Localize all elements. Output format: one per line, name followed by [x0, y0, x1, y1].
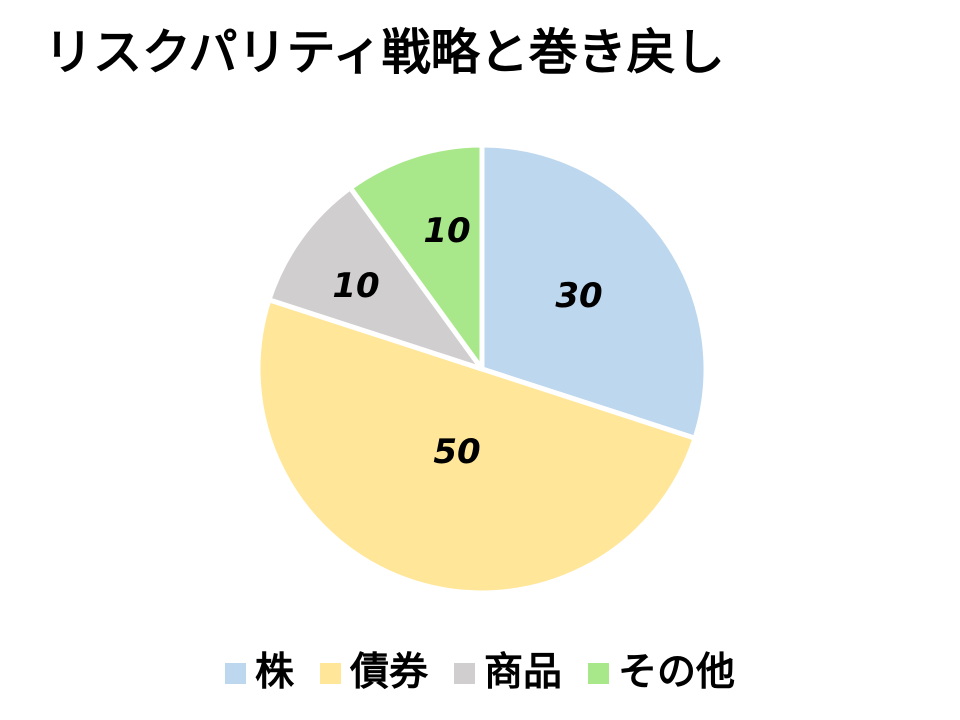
legend-item-stocks[interactable]: 株	[225, 651, 294, 695]
pie-slice-label-commodities: 10	[332, 266, 379, 306]
legend-swatch-bonds	[320, 663, 341, 684]
legend-swatch-commodities	[454, 663, 475, 684]
legend-item-commodities[interactable]: 商品	[454, 651, 562, 695]
legend-item-other[interactable]: その他	[588, 651, 735, 695]
pie-chart: 30 50 10 10	[0, 0, 960, 640]
legend-swatch-stocks	[225, 663, 246, 684]
chart-legend: 株 債券 商品 その他	[0, 645, 960, 701]
pie-slice-group	[258, 145, 706, 593]
pie-chart-svg	[0, 0, 960, 640]
legend-label-bonds: 債券	[350, 651, 428, 695]
legend-label-other: その他	[618, 651, 735, 695]
slide-canvas: リスクパリティ戦略と巻き戻し 30 50 10 10 株 債券 商品 その他	[0, 0, 960, 720]
pie-slice-label-bonds: 50	[433, 432, 480, 472]
legend-label-commodities: 商品	[484, 651, 562, 695]
pie-slice-label-other: 10	[423, 211, 470, 251]
pie-slice-label-stocks: 30	[555, 276, 602, 316]
legend-item-bonds[interactable]: 債券	[320, 651, 428, 695]
legend-label-stocks: 株	[255, 651, 294, 695]
legend-swatch-other	[588, 663, 609, 684]
